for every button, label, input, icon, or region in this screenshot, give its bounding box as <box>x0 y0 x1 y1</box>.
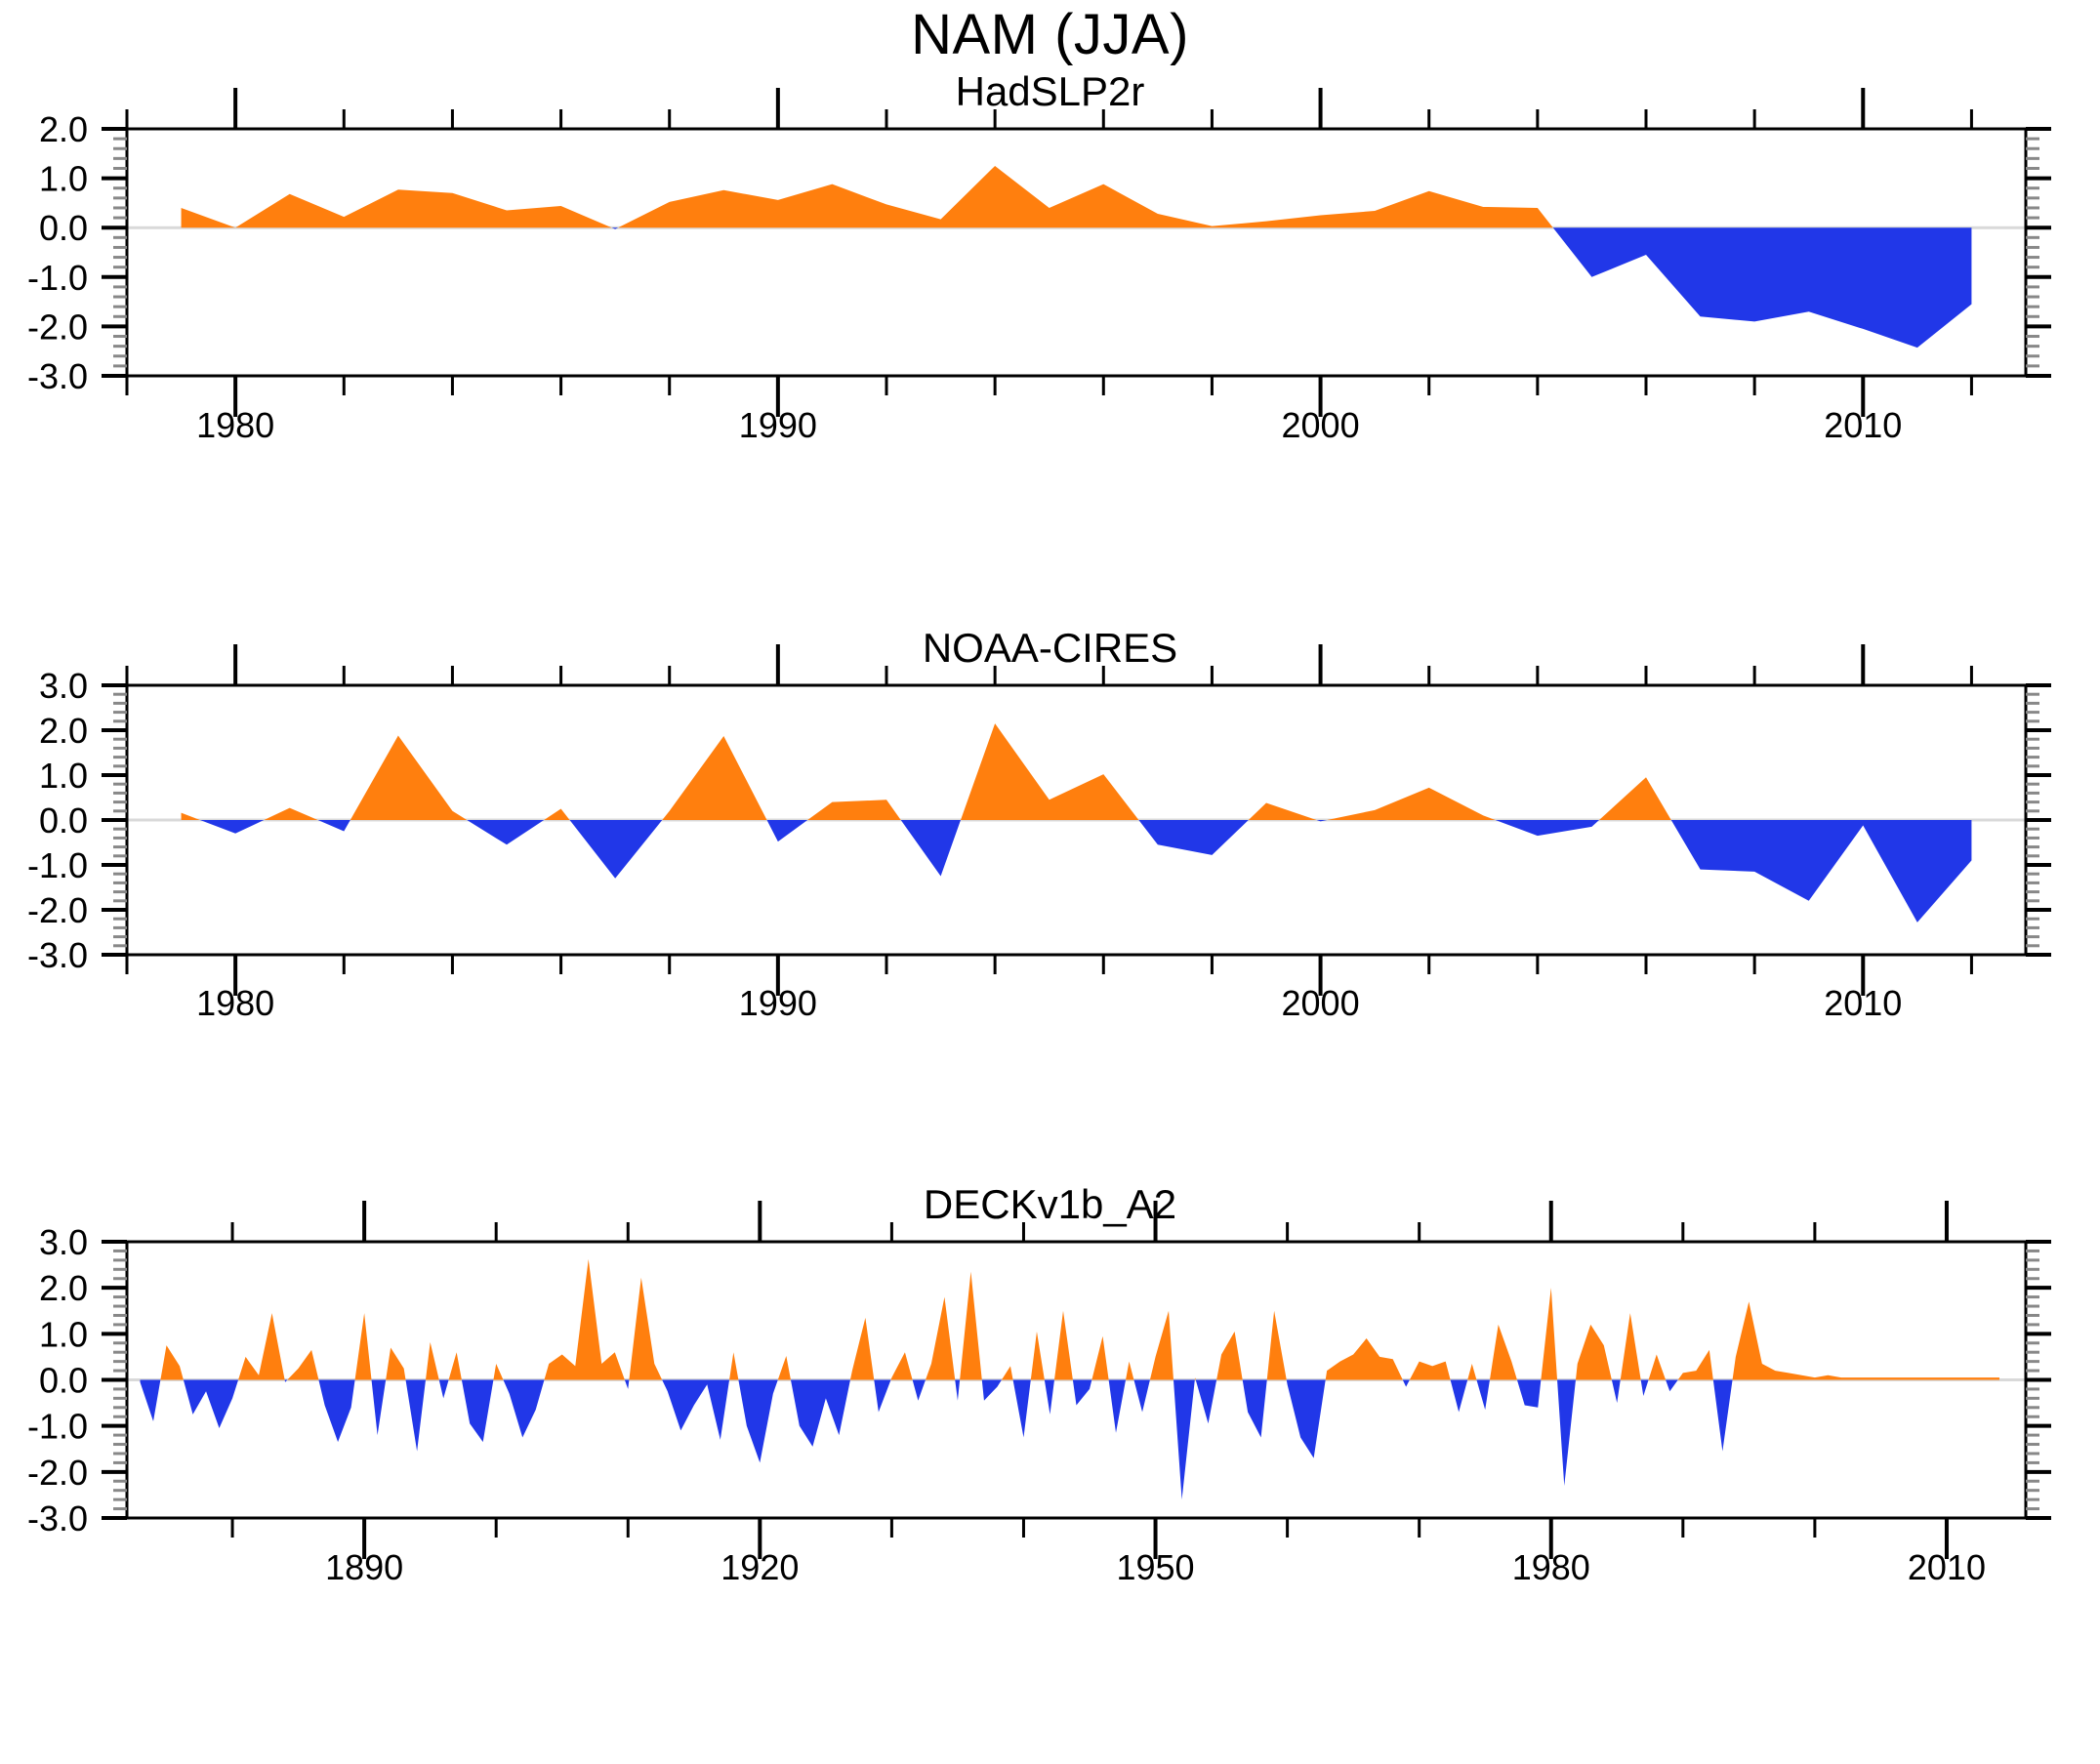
y-tick-label: 0.0 <box>39 800 88 841</box>
y-tick-label: -3.0 <box>27 1498 88 1538</box>
x-tick-label: 2010 <box>1908 1547 1986 1587</box>
y-tick-label: 3.0 <box>39 1222 88 1262</box>
figure-title: NAM (JJA) <box>0 2 2100 67</box>
x-tick-label: 1980 <box>1512 1547 1590 1587</box>
panel-title-2: DECKv1b_A2 <box>0 1181 2100 1228</box>
negative-area <box>141 1380 1733 1500</box>
x-tick-label: 1990 <box>739 405 817 445</box>
plot-area-1: 3.02.01.00.0-1.0-2.0-3.01980199020002010 <box>0 625 2100 1103</box>
y-tick-label: -1.0 <box>27 258 88 298</box>
panel-title-0: HadSLP2r <box>0 68 2100 115</box>
x-tick-label: 2010 <box>1824 405 1902 445</box>
y-tick-label: -2.0 <box>27 307 88 347</box>
y-tick-label: -1.0 <box>27 845 88 885</box>
x-tick-label: 1890 <box>325 1547 403 1587</box>
x-tick-label: 2000 <box>1282 405 1360 445</box>
x-tick-label: 1950 <box>1116 1547 1194 1587</box>
panel-hadslp2r: HadSLP2r 2.01.00.0-1.0-2.0-3.01980199020… <box>0 68 2100 547</box>
positive-area <box>160 1259 1999 1380</box>
x-tick-label: 1920 <box>721 1547 799 1587</box>
y-tick-label: -2.0 <box>27 890 88 930</box>
x-tick-label: 2000 <box>1282 983 1360 1023</box>
y-tick-label: 2.0 <box>39 711 88 751</box>
plot-area-0: 2.01.00.0-1.0-2.0-3.01980199020002010 <box>0 68 2100 547</box>
negative-area <box>200 820 1972 923</box>
negative-area <box>612 227 1972 348</box>
positive-area <box>182 723 1671 820</box>
y-tick-label: 1.0 <box>39 159 88 199</box>
y-tick-label: 3.0 <box>39 666 88 706</box>
x-tick-label: 1990 <box>739 983 817 1023</box>
plot-area-2: 3.02.01.00.0-1.0-2.0-3.01890192019501980… <box>0 1181 2100 1764</box>
y-tick-label: -3.0 <box>27 935 88 975</box>
y-tick-label: 1.0 <box>39 1314 88 1354</box>
panel-deckv1b-a2: DECKv1b_A2 3.02.01.00.0-1.0-2.0-3.018901… <box>0 1181 2100 1764</box>
x-tick-label: 1980 <box>196 405 274 445</box>
positive-area <box>182 166 1553 227</box>
y-tick-label: 1.0 <box>39 756 88 796</box>
y-tick-label: 2.0 <box>39 109 88 149</box>
y-tick-label: -3.0 <box>27 356 88 396</box>
y-tick-label: 0.0 <box>39 1361 88 1401</box>
y-tick-label: 2.0 <box>39 1268 88 1308</box>
y-tick-label: 0.0 <box>39 208 88 248</box>
y-tick-label: -1.0 <box>27 1407 88 1447</box>
panel-noaa-cires: NOAA-CIRES 3.02.01.00.0-1.0-2.0-3.019801… <box>0 625 2100 1103</box>
x-tick-label: 2010 <box>1824 983 1902 1023</box>
x-tick-label: 1980 <box>196 983 274 1023</box>
y-tick-label: -2.0 <box>27 1453 88 1493</box>
panel-title-1: NOAA-CIRES <box>0 625 2100 672</box>
figure-root: NAM (JJA) HadSLP2r 2.01.00.0-1.0-2.0-3.0… <box>0 0 2100 1764</box>
